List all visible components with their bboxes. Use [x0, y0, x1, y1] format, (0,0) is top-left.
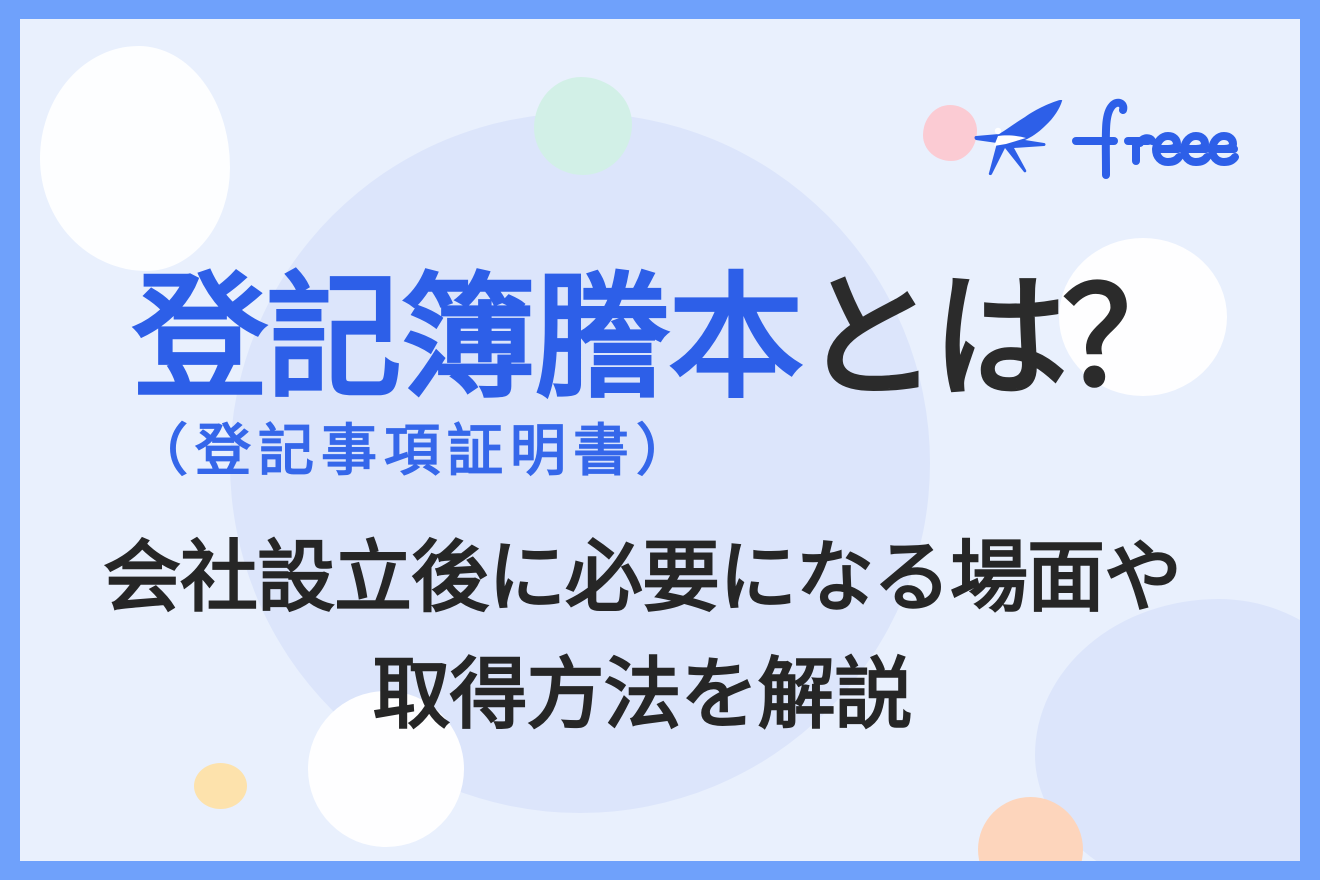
banner-title: 登記簿謄本とは？: [132, 270, 1192, 406]
banner-card: 登記簿謄本とは？ （登記事項証明書） 会社設立後に必要になる場面や 取得方法を解…: [20, 19, 1300, 861]
banner-lead-line-2: 取得方法を解説: [20, 655, 1282, 733]
promo-banner: 登記簿謄本とは？ （登記事項証明書） 会社設立後に必要になる場面や 取得方法を解…: [0, 0, 1320, 880]
banner-lead-line-1: 会社設立後に必要になる場面や: [20, 538, 1282, 616]
banner-title-highlight: 登記簿謄本: [132, 262, 802, 414]
banner-text-block: 登記簿謄本とは？ （登記事項証明書） 会社設立後に必要になる場面や 取得方法を解…: [20, 19, 1300, 861]
banner-title-tail: とは？: [802, 262, 1192, 414]
banner-subtitle: （登記事項証明書）: [132, 423, 699, 479]
